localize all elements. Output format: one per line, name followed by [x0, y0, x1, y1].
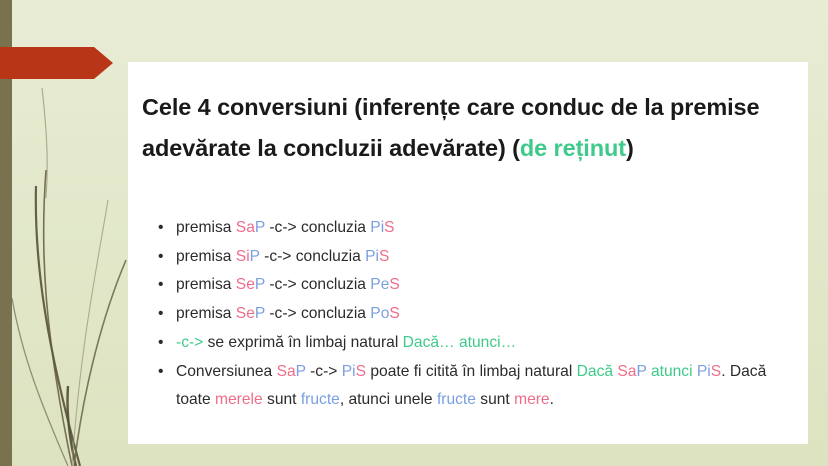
- text-segment: -c->: [306, 363, 342, 380]
- text-segment: merele: [215, 391, 263, 408]
- text-segment: Pi: [697, 363, 711, 380]
- bullet-conversion-1: premisa SaP -c-> concluzia PiS: [142, 214, 794, 243]
- text-segment: atunci: [651, 363, 693, 380]
- text-segment: S: [711, 363, 721, 380]
- conversion-rules-list: premisa SaP -c-> concluzia PiSpremisa Si…: [142, 214, 794, 415]
- bullet-example: Conversiunea SaP -c-> PiS poate fi citit…: [142, 358, 794, 415]
- bullet-conversion-3: premisa SeP -c-> concluzia PeS: [142, 271, 794, 300]
- text-segment: fructe: [437, 391, 476, 408]
- text-segment: premisa: [176, 219, 236, 236]
- text-segment: Sa: [617, 363, 636, 380]
- text-segment: sunt: [476, 391, 514, 408]
- text-segment: se exprimă în limbaj natural: [203, 334, 402, 351]
- arrow-banner-icon: [0, 47, 113, 79]
- text-segment: -c->: [176, 334, 203, 351]
- text-segment: P: [636, 363, 646, 380]
- text-segment: S: [389, 276, 399, 293]
- text-segment: .: [550, 391, 554, 408]
- text-segment: P: [250, 248, 260, 265]
- text-segment: P: [255, 219, 265, 236]
- title-text-main: Cele 4 conversiuni (inferențe care condu…: [142, 94, 759, 161]
- text-segment: fructe: [301, 391, 340, 408]
- text-segment: Pi: [342, 363, 356, 380]
- text-segment: S: [379, 248, 389, 265]
- text-segment: S: [389, 305, 399, 322]
- text-segment: -c-> concluzia: [265, 305, 370, 322]
- bullet-conversion-2: premisa SiP -c-> concluzia PiS: [142, 243, 794, 272]
- text-segment: atunci…: [459, 334, 516, 351]
- text-segment: poate fi citită în limbaj natural: [366, 363, 577, 380]
- text-segment: Sa: [277, 363, 296, 380]
- bullet-notation: -c-> se exprimă în limbaj natural Dacă… …: [142, 329, 794, 358]
- text-segment: Se: [236, 276, 255, 293]
- text-segment: Po: [370, 305, 389, 322]
- content-card: Cele 4 conversiuni (inferențe care condu…: [128, 62, 808, 444]
- text-segment: mere: [514, 391, 550, 408]
- text-segment: premisa: [176, 276, 236, 293]
- text-segment: Sa: [236, 219, 255, 236]
- title-text-tail: ): [626, 135, 634, 161]
- text-segment: , atunci unele: [340, 391, 437, 408]
- text-segment: Conversiunea: [176, 363, 277, 380]
- bullet-conversion-4: premisa SeP -c-> concluzia PoS: [142, 300, 794, 329]
- text-segment: -c-> concluzia: [265, 219, 370, 236]
- title-text-highlight: de reținut: [520, 135, 626, 161]
- text-segment: premisa: [176, 248, 236, 265]
- text-segment: P: [296, 363, 306, 380]
- text-segment: S: [384, 219, 394, 236]
- text-segment: premisa: [176, 305, 236, 322]
- text-segment: Se: [236, 305, 255, 322]
- text-segment: P: [255, 276, 265, 293]
- text-segment: Dacă…: [403, 334, 455, 351]
- text-segment: Si: [236, 248, 250, 265]
- text-segment: P: [255, 305, 265, 322]
- text-segment: Dacă: [577, 363, 613, 380]
- text-segment: -c-> concluzia: [265, 276, 370, 293]
- text-segment: Pi: [365, 248, 379, 265]
- slide-title: Cele 4 conversiuni (inferențe care condu…: [142, 87, 794, 169]
- text-segment: sunt: [263, 391, 301, 408]
- presentation-slide: Cele 4 conversiuni (inferențe care condu…: [0, 0, 828, 466]
- text-segment: S: [356, 363, 366, 380]
- text-segment: -c-> concluzia: [260, 248, 365, 265]
- text-segment: Pe: [370, 276, 389, 293]
- text-segment: Pi: [370, 219, 384, 236]
